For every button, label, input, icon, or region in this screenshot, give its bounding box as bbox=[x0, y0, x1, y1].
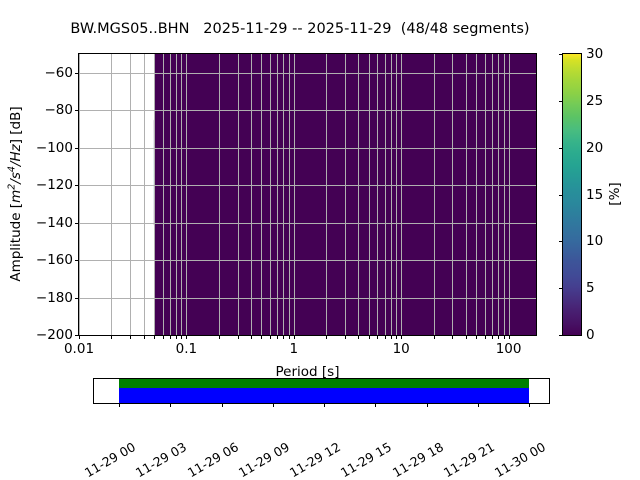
y-tick-label: −120 bbox=[36, 177, 73, 193]
timeline-axis[interactable]: 11-29 0011-29 0311-29 0611-29 0911-29 12… bbox=[93, 378, 550, 404]
colorbar-tick-label: 15 bbox=[586, 187, 603, 203]
timeline-tick bbox=[529, 403, 530, 407]
gridline-vertical bbox=[283, 54, 284, 335]
y-tick-label: −160 bbox=[36, 252, 73, 268]
gridline-vertical bbox=[163, 54, 164, 335]
x-tick bbox=[358, 335, 359, 339]
gridline-horizontal bbox=[79, 223, 536, 224]
x-tick bbox=[289, 335, 290, 339]
x-tick-label: 0.1 bbox=[176, 341, 197, 357]
x-tick bbox=[509, 335, 510, 339]
y-tick-label: −100 bbox=[36, 140, 73, 156]
colorbar-tick-label: 5 bbox=[586, 280, 595, 296]
timeline-tick bbox=[427, 403, 428, 407]
gridline-vertical bbox=[476, 54, 477, 335]
gridline-vertical bbox=[238, 54, 239, 335]
x-tick bbox=[396, 335, 397, 339]
y-tick bbox=[75, 185, 79, 186]
gridline-horizontal bbox=[79, 260, 536, 261]
timeline-tick bbox=[478, 403, 479, 407]
y-tick-label: −80 bbox=[45, 102, 74, 118]
gridline-vertical bbox=[401, 54, 402, 335]
colorbar-tick bbox=[559, 241, 563, 242]
x-tick bbox=[326, 335, 327, 339]
ylabel-exp-4: 4 bbox=[6, 166, 17, 172]
x-tick bbox=[130, 335, 131, 339]
gridline-vertical bbox=[294, 54, 295, 335]
gridline-vertical bbox=[466, 54, 467, 335]
colorbar[interactable]: 051015202530 [%] bbox=[562, 53, 582, 336]
x-tick bbox=[270, 335, 271, 339]
y-tick bbox=[75, 73, 79, 74]
x-tick bbox=[466, 335, 467, 339]
timeline-tick-label: 11-29 06 bbox=[184, 439, 240, 480]
gridline-vertical bbox=[186, 54, 187, 335]
gridline-vertical bbox=[251, 54, 252, 335]
x-tick bbox=[238, 335, 239, 339]
gridline-vertical bbox=[391, 54, 392, 335]
gridline-vertical bbox=[504, 54, 505, 335]
x-tick bbox=[345, 335, 346, 339]
ylabel-unit-s: /s bbox=[8, 172, 24, 184]
x-tick bbox=[277, 335, 278, 339]
gridline-vertical bbox=[170, 54, 171, 335]
x-tick bbox=[498, 335, 499, 339]
timeline-tick-label: 11-29 09 bbox=[236, 439, 292, 480]
gridline-vertical bbox=[154, 54, 155, 335]
colorbar-tick bbox=[559, 101, 563, 102]
gridline-vertical bbox=[261, 54, 262, 335]
ylabel-exp-2: 2 bbox=[6, 184, 17, 190]
y-tick bbox=[75, 260, 79, 261]
gridline-vertical bbox=[452, 54, 453, 335]
gridline-vertical bbox=[434, 54, 435, 335]
x-tick bbox=[485, 335, 486, 339]
timeline-tick-label: 11-29 12 bbox=[287, 439, 343, 480]
timeline-tick-label: 11-29 15 bbox=[338, 439, 394, 480]
x-tick bbox=[111, 335, 112, 339]
gridline-vertical bbox=[369, 54, 370, 335]
y-tick-label: −180 bbox=[36, 290, 73, 306]
x-tick bbox=[79, 335, 80, 339]
x-tick bbox=[163, 335, 164, 339]
timeline-bar-psd-segments bbox=[119, 388, 529, 403]
gridline-vertical bbox=[498, 54, 499, 335]
x-tick bbox=[377, 335, 378, 339]
timeline-tick-label: 11-29 21 bbox=[441, 439, 497, 480]
colorbar-tick-label: 20 bbox=[586, 140, 603, 156]
x-tick bbox=[369, 335, 370, 339]
x-tick-label: 100 bbox=[496, 341, 522, 357]
gridline-vertical bbox=[111, 54, 112, 335]
gridline-vertical bbox=[289, 54, 290, 335]
colorbar-tick bbox=[559, 288, 563, 289]
x-tick bbox=[434, 335, 435, 339]
y-tick-label: −140 bbox=[36, 215, 73, 231]
colorbar-tick-label: 30 bbox=[586, 46, 603, 62]
x-tick-label: 0.01 bbox=[64, 341, 94, 357]
gridline-vertical bbox=[130, 54, 131, 335]
x-tick bbox=[504, 335, 505, 339]
x-tick bbox=[154, 335, 155, 339]
x-tick bbox=[476, 335, 477, 339]
gridline-vertical bbox=[326, 54, 327, 335]
gridline-vertical bbox=[396, 54, 397, 335]
timeline-bar-data-coverage bbox=[119, 379, 529, 388]
gridline-vertical bbox=[277, 54, 278, 335]
y-tick bbox=[75, 298, 79, 299]
gridline-vertical bbox=[509, 54, 510, 335]
gridline-vertical bbox=[385, 54, 386, 335]
x-tick bbox=[181, 335, 182, 339]
x-tick bbox=[144, 335, 145, 339]
gridline-vertical bbox=[492, 54, 493, 335]
x-tick bbox=[251, 335, 252, 339]
colorbar-tick-label: 25 bbox=[586, 93, 603, 109]
gridline-vertical bbox=[144, 54, 145, 335]
timeline-tick bbox=[170, 403, 171, 407]
gridline-vertical bbox=[377, 54, 378, 335]
timeline-tick-label: 11-30 00 bbox=[492, 439, 548, 480]
y-tick bbox=[75, 110, 79, 111]
x-tick bbox=[492, 335, 493, 339]
colorbar-tick bbox=[559, 195, 563, 196]
x-tick bbox=[176, 335, 177, 339]
gridline-horizontal bbox=[79, 185, 536, 186]
gridline-vertical bbox=[176, 54, 177, 335]
y-tick-label: −60 bbox=[45, 65, 74, 81]
x-tick bbox=[391, 335, 392, 339]
timeline-tick bbox=[119, 403, 120, 407]
x-tick bbox=[452, 335, 453, 339]
ylabel-prefix: Amplitude [ bbox=[8, 203, 24, 282]
timeline-tick-label: 11-29 00 bbox=[82, 439, 138, 480]
colorbar-tick bbox=[559, 54, 563, 55]
timeline-tick bbox=[375, 403, 376, 407]
x-tick bbox=[385, 335, 386, 339]
gridline-vertical bbox=[270, 54, 271, 335]
x-tick-label: 10 bbox=[393, 341, 410, 357]
colorbar-tick-label: 0 bbox=[586, 327, 595, 343]
ppsd-plot-area[interactable]: 0.010.1110100 −60−80−100−120−140−160−180… bbox=[78, 53, 537, 336]
gridline-horizontal bbox=[79, 148, 536, 149]
x-tick bbox=[261, 335, 262, 339]
ppsd-plot-clip bbox=[79, 54, 536, 335]
y-tick-label: −200 bbox=[36, 327, 73, 343]
y-axis-label: Amplitude [m2/s4/Hz] [dB] bbox=[6, 106, 24, 281]
plot-title: BW.MGS05..BHN 2025-11-29 -- 2025-11-29 (… bbox=[0, 21, 600, 37]
ylabel-unit-hz: /Hz bbox=[8, 144, 24, 166]
timeline-tick-label: 11-29 03 bbox=[133, 439, 189, 480]
ylabel-unit-m: m bbox=[8, 190, 24, 203]
x-tick-label: 1 bbox=[289, 341, 298, 357]
colorbar-gradient bbox=[563, 54, 581, 335]
gridline-vertical bbox=[219, 54, 220, 335]
gridline-horizontal bbox=[79, 73, 536, 74]
gridline-horizontal bbox=[79, 110, 536, 111]
y-tick bbox=[75, 335, 79, 336]
x-tick bbox=[283, 335, 284, 339]
gridline-horizontal bbox=[79, 298, 536, 299]
x-tick bbox=[401, 335, 402, 339]
x-tick bbox=[219, 335, 220, 339]
gridline-vertical bbox=[181, 54, 182, 335]
colorbar-tick bbox=[559, 335, 563, 336]
timeline-tick-label: 11-29 18 bbox=[389, 439, 445, 480]
timeline-tick bbox=[222, 403, 223, 407]
gridline-vertical bbox=[79, 54, 80, 335]
gridline-vertical bbox=[358, 54, 359, 335]
ylabel-suffix: ] [dB] bbox=[8, 106, 24, 144]
ppsd-figure: BW.MGS05..BHN 2025-11-29 -- 2025-11-29 (… bbox=[0, 0, 640, 480]
colorbar-tick bbox=[559, 148, 563, 149]
timeline-tick bbox=[324, 403, 325, 407]
gridline-vertical bbox=[345, 54, 346, 335]
gridline-vertical bbox=[485, 54, 486, 335]
timeline-tick bbox=[273, 403, 274, 407]
colorbar-label: [%] bbox=[607, 182, 623, 205]
x-tick bbox=[170, 335, 171, 339]
colorbar-tick-label: 10 bbox=[586, 233, 603, 249]
y-tick bbox=[75, 148, 79, 149]
y-tick bbox=[75, 223, 79, 224]
x-tick bbox=[294, 335, 295, 339]
x-tick bbox=[186, 335, 187, 339]
